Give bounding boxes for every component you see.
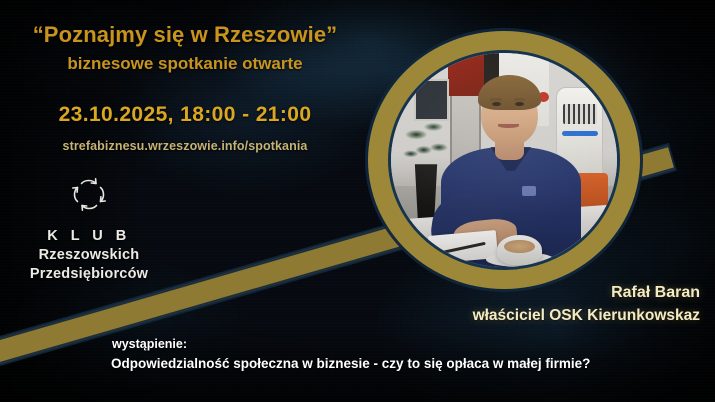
speaker-photo <box>391 53 617 267</box>
talk-info: wystąpienie: Odpowiedzialność społeczna … <box>112 336 590 373</box>
event-poster: “Poznajmy się w Rzeszowie” biznesowe spo… <box>0 0 715 402</box>
page-title: “Poznajmy się w Rzeszowie” <box>0 22 370 48</box>
club-name-line3: Przedsiębiorców <box>0 265 178 285</box>
club-logo-block: K L U B Rzeszowskich Przedsiębiorców <box>0 172 178 285</box>
four-arrows-cycle-icon <box>0 172 178 221</box>
photo-shading-overlay <box>391 53 617 267</box>
speaker-role: właściciel OSK Kierunkowskaz <box>473 306 700 325</box>
event-url[interactable]: strefabiznesu.wrzeszowie.info/spotkania <box>0 139 370 153</box>
event-datetime: 23.10.2025, 18:00 - 21:00 <box>0 103 370 127</box>
talk-title: Odpowiedzialność społeczna w biznesie - … <box>111 355 590 373</box>
talk-label: wystąpienie: <box>112 336 590 353</box>
speaker-name: Rafał Baran <box>473 283 700 303</box>
club-name-line1: K L U B <box>0 227 178 246</box>
speaker-info: Rafał Baran właściciel OSK Kierunkowskaz <box>473 283 700 325</box>
portrait-gold-ring <box>368 31 640 289</box>
club-name-line2: Rzeszowskich <box>0 246 178 266</box>
poster-title-block: “Poznajmy się w Rzeszowie” biznesowe spo… <box>0 22 370 74</box>
page-subtitle: biznesowe spotkanie otwarte <box>0 54 370 74</box>
